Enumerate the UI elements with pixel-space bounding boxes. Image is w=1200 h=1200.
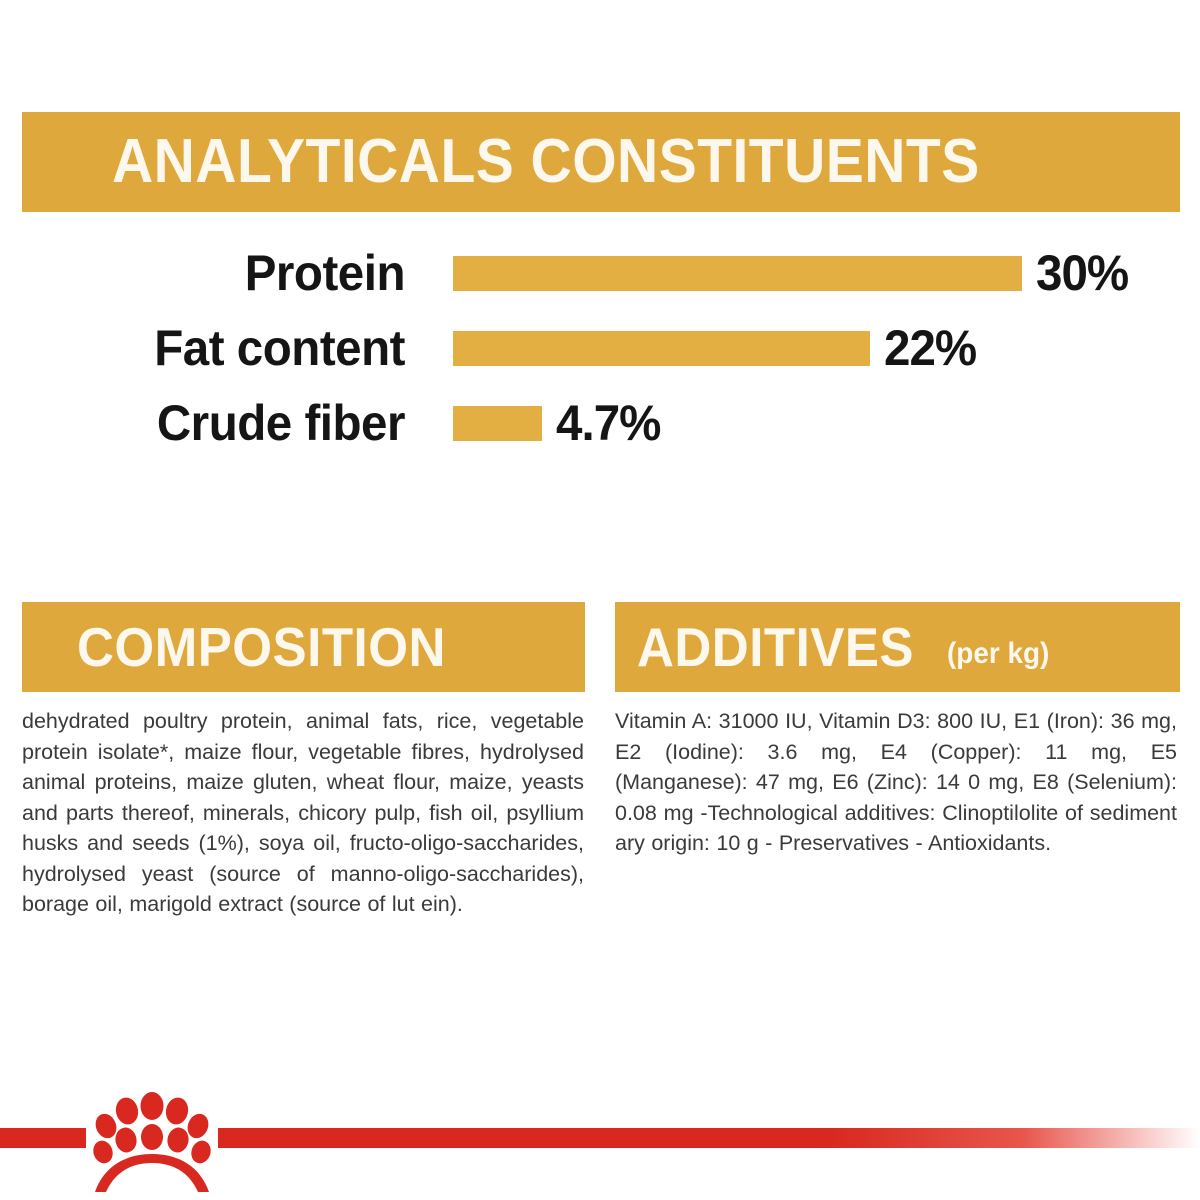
chart-row-fat-content: Fat content 22% (0, 320, 1200, 376)
chart-label-crude-fiber: Crude fiber (20, 394, 405, 452)
bar-value-fat-content: 22% (884, 319, 976, 377)
chart-label-fat-content: Fat content (20, 319, 405, 377)
bar-wrap-protein: 30% (453, 244, 1133, 302)
bar-crude-fiber (453, 406, 542, 441)
bar-fat-content (453, 331, 870, 366)
analyticals-bar-chart: Protein 30% Fat content 22% Crude fiber … (0, 245, 1200, 460)
composition-heading-label: COMPOSITION (77, 620, 446, 675)
chart-row-protein: Protein 30% (0, 245, 1200, 301)
analyticals-constituents-header: ANALYTICALS CONSTITUENTS (22, 112, 1180, 212)
additives-heading-label: ADDITIVES (637, 620, 914, 675)
brand-rule-left (0, 1128, 86, 1148)
composition-header: COMPOSITION (22, 602, 585, 692)
brand-rule-right (218, 1128, 1200, 1148)
analyticals-heading-label: ANALYTICALS CONSTITUENTS (112, 131, 980, 193)
chart-label-protein: Protein (20, 244, 405, 302)
composition-body-text: dehydrated poultry protein, animal fats,… (22, 706, 584, 920)
chart-row-crude-fiber: Crude fiber 4.7% (0, 395, 1200, 451)
additives-body-text: Vitamin A: 31000 IU, Vitamin D3: 800 IU,… (615, 706, 1177, 859)
bar-wrap-fat-content: 22% (453, 319, 981, 377)
additives-header: ADDITIVES (per kg) (615, 602, 1180, 692)
additives-per-kg-label: (per kg) (947, 639, 1049, 669)
nutrition-panel-page: ANALYTICALS CONSTITUENTS Protein 30% Fat… (0, 0, 1200, 1200)
bar-wrap-crude-fiber: 4.7% (453, 394, 666, 452)
royal-canin-crown-icon (86, 1088, 218, 1193)
bar-value-crude-fiber: 4.7% (556, 394, 660, 452)
footer-brand-band (0, 1080, 1200, 1200)
bar-value-protein: 30% (1036, 244, 1128, 302)
bar-protein (453, 256, 1022, 291)
